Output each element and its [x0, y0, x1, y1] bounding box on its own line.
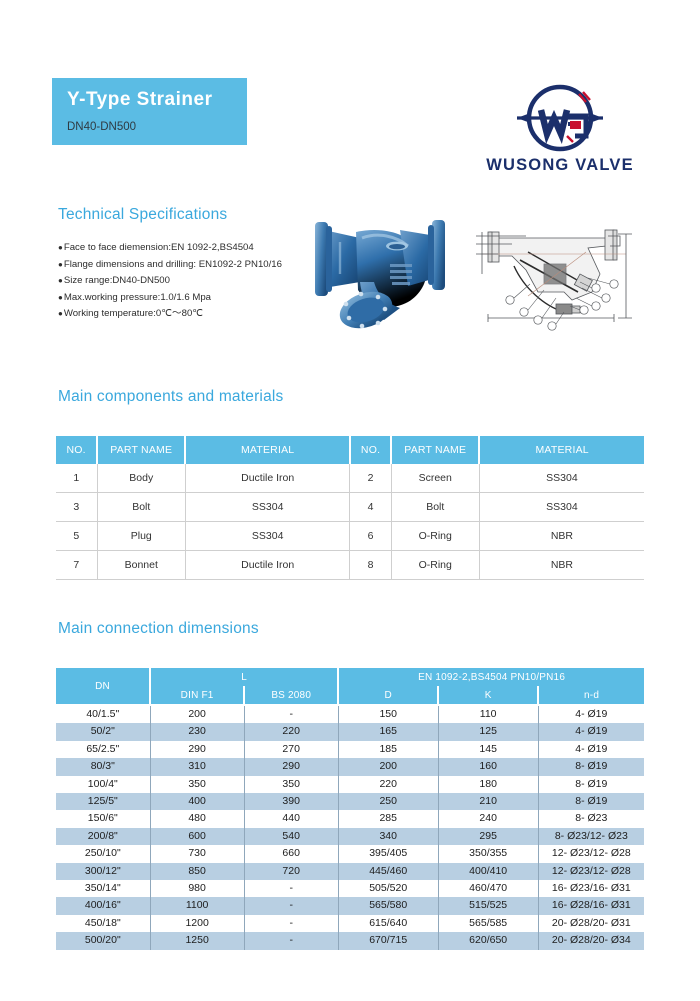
dimensions-table-body: 40/1.5" 200 - 150 110 4- Ø19 50/2" 230 2…	[56, 705, 644, 950]
column-header-material-1: MATERIAL	[185, 436, 350, 464]
cell-din-f1: 730	[150, 845, 244, 862]
cell-dn: 65/2.5"	[56, 741, 150, 758]
materials-table: NO. PART NAME MATERIAL NO. PART NAME MAT…	[56, 436, 644, 580]
spec-item: ●Face to face diemension:EN 1092-2,BS450…	[58, 240, 303, 257]
cell-n-d: 12- Ø23/12- Ø28	[538, 863, 644, 880]
cell-bs-2080: -	[244, 915, 338, 932]
cell-n-d: 4- Ø19	[538, 723, 644, 740]
technical-spec-list: ●Face to face diemension:EN 1092-2,BS450…	[58, 240, 303, 323]
cell-din-f1: 350	[150, 776, 244, 793]
cell-n-d: 20- Ø28/20- Ø34	[538, 932, 644, 949]
cell-d: 150	[338, 705, 438, 723]
table-row: 7 Bonnet Ductile Iron 8 O-Ring NBR	[56, 551, 644, 580]
cell-material: Ductile Iron	[185, 551, 350, 580]
cell-din-f1: 1250	[150, 932, 244, 949]
table-row: 150/6" 480 440 285 240 8- Ø23	[56, 810, 644, 827]
company-logo: WUSONG VALVE	[455, 80, 665, 188]
column-header-material-2: MATERIAL	[479, 436, 644, 464]
cell-material: SS304	[479, 493, 644, 522]
cell-part-name: Plug	[97, 522, 185, 551]
cell-k: 125	[438, 723, 538, 740]
spec-text: Working temperature:0℃～80℃	[64, 308, 203, 319]
cell-part-name: Bolt	[97, 493, 185, 522]
cell-bs-2080: 390	[244, 793, 338, 810]
cell-no: 2	[350, 464, 391, 493]
cell-part-name: O-Ring	[391, 522, 479, 551]
bullet-icon: ●	[58, 260, 63, 269]
cell-part-name: O-Ring	[391, 551, 479, 580]
column-header-part-name-2: PART NAME	[391, 436, 479, 464]
cell-n-d: 8- Ø23/12- Ø23	[538, 828, 644, 845]
dimensions-table: DN L EN 1092-2,BS4504 PN10/PN16 DIN F1 B…	[56, 668, 644, 950]
column-header-no-1: NO.	[56, 436, 97, 464]
technical-drawing	[468, 226, 638, 332]
column-header-d: D	[338, 686, 438, 705]
cell-d: 285	[338, 810, 438, 827]
cell-d: 165	[338, 723, 438, 740]
cell-dn: 40/1.5"	[56, 705, 150, 723]
cell-din-f1: 480	[150, 810, 244, 827]
page-title: Y-Type Strainer	[67, 88, 247, 112]
cell-d: 340	[338, 828, 438, 845]
spec-item: ●Flange dimensions and drilling: EN1092-…	[58, 257, 303, 274]
cell-part-name: Screen	[391, 464, 479, 493]
cell-din-f1: 1200	[150, 915, 244, 932]
cell-d: 220	[338, 776, 438, 793]
cell-d: 445/460	[338, 863, 438, 880]
cell-n-d: 8- Ø23	[538, 810, 644, 827]
cell-k: 565/585	[438, 915, 538, 932]
cell-no: 4	[350, 493, 391, 522]
spec-text: Max.working pressure:1.0/1.6 Mpa	[64, 292, 211, 303]
cell-din-f1: 1100	[150, 897, 244, 914]
cell-no: 7	[56, 551, 97, 580]
table-row: 65/2.5" 290 270 185 145 4- Ø19	[56, 741, 644, 758]
column-header-din-f1: DIN F1	[150, 686, 244, 705]
bullet-icon: ●	[58, 243, 63, 252]
cell-d: 200	[338, 758, 438, 775]
cell-bs-2080: 270	[244, 741, 338, 758]
section-heading-dimensions: Main connection dimensions	[58, 620, 259, 638]
table-row: 1 Body Ductile Iron 2 Screen SS304	[56, 464, 644, 493]
cell-material: NBR	[479, 551, 644, 580]
spec-text: Flange dimensions and drilling: EN1092-2…	[64, 259, 282, 270]
cell-din-f1: 200	[150, 705, 244, 723]
cell-material: SS304	[479, 464, 644, 493]
section-heading-materials: Main components and materials	[58, 388, 284, 406]
spec-item: ●Max.working pressure:1.0/1.6 Mpa	[58, 290, 303, 307]
product-photo	[296, 208, 461, 340]
cell-d: 670/715	[338, 932, 438, 949]
column-header-group-en: EN 1092-2,BS4504 PN10/PN16	[338, 668, 644, 686]
cell-no: 5	[56, 522, 97, 551]
cell-k: 160	[438, 758, 538, 775]
cell-dn: 450/18"	[56, 915, 150, 932]
page-header: Y-Type Strainer DN40-DN500 WUSONG VALVE	[0, 78, 700, 188]
wusong-logo-icon	[455, 80, 665, 158]
cell-dn: 150/6"	[56, 810, 150, 827]
cell-bs-2080: 720	[244, 863, 338, 880]
table-row: 5 Plug SS304 6 O-Ring NBR	[56, 522, 644, 551]
cell-bs-2080: -	[244, 705, 338, 723]
cell-dn: 50/2"	[56, 723, 150, 740]
cell-bs-2080: -	[244, 932, 338, 949]
cell-din-f1: 230	[150, 723, 244, 740]
cell-din-f1: 600	[150, 828, 244, 845]
column-header-bs-2080: BS 2080	[244, 686, 338, 705]
column-header-group-l: L	[150, 668, 338, 686]
cell-k: 400/410	[438, 863, 538, 880]
cell-d: 395/405	[338, 845, 438, 862]
cell-dn: 80/3"	[56, 758, 150, 775]
cell-bs-2080: -	[244, 897, 338, 914]
table-row: 300/12" 850 720 445/460 400/410 12- Ø23/…	[56, 863, 644, 880]
cell-bs-2080: -	[244, 880, 338, 897]
cell-bs-2080: 290	[244, 758, 338, 775]
cell-no: 1	[56, 464, 97, 493]
cell-part-name: Body	[97, 464, 185, 493]
page-subtitle: DN40-DN500	[67, 117, 247, 137]
table-row: 80/3" 310 290 200 160 8- Ø19	[56, 758, 644, 775]
table-row: 100/4" 350 350 220 180 8- Ø19	[56, 776, 644, 793]
cell-dn: 250/10"	[56, 845, 150, 862]
cell-dn: 350/14"	[56, 880, 150, 897]
cell-k: 110	[438, 705, 538, 723]
cell-bs-2080: 440	[244, 810, 338, 827]
table-header-group-row: DN L EN 1092-2,BS4504 PN10/PN16	[56, 668, 644, 686]
table-row: 400/16" 1100 - 565/580 515/525 16- Ø28/1…	[56, 897, 644, 914]
cell-k: 210	[438, 793, 538, 810]
section-heading-technical: Technical Specifications	[58, 206, 227, 224]
cell-n-d: 20- Ø28/20- Ø31	[538, 915, 644, 932]
table-row: 350/14" 980 - 505/520 460/470 16- Ø23/16…	[56, 880, 644, 897]
cell-n-d: 8- Ø19	[538, 776, 644, 793]
cell-material: Ductile Iron	[185, 464, 350, 493]
column-header-k: K	[438, 686, 538, 705]
spec-text: Size range:DN40-DN500	[64, 275, 170, 286]
cell-dn: 400/16"	[56, 897, 150, 914]
cell-d: 250	[338, 793, 438, 810]
cell-d: 565/580	[338, 897, 438, 914]
cell-din-f1: 980	[150, 880, 244, 897]
title-banner: Y-Type Strainer DN40-DN500	[52, 78, 247, 145]
cell-no: 3	[56, 493, 97, 522]
cell-no: 6	[350, 522, 391, 551]
spec-text: Face to face diemension:EN 1092-2,BS4504	[64, 242, 254, 253]
cell-n-d: 4- Ø19	[538, 705, 644, 723]
column-header-n-d: n-d	[538, 686, 644, 705]
cell-dn: 125/5"	[56, 793, 150, 810]
cell-d: 185	[338, 741, 438, 758]
cell-k: 295	[438, 828, 538, 845]
cell-no: 8	[350, 551, 391, 580]
cell-n-d: 12- Ø23/12- Ø28	[538, 845, 644, 862]
bullet-icon: ●	[58, 309, 63, 318]
cell-dn: 500/20"	[56, 932, 150, 949]
column-header-part-name-1: PART NAME	[97, 436, 185, 464]
table-row: 250/10" 730 660 395/405 350/355 12- Ø23/…	[56, 845, 644, 862]
table-row: 200/8" 600 540 340 295 8- Ø23/12- Ø23	[56, 828, 644, 845]
table-row: 50/2" 230 220 165 125 4- Ø19	[56, 723, 644, 740]
cell-k: 620/650	[438, 932, 538, 949]
cell-din-f1: 400	[150, 793, 244, 810]
cell-dn: 100/4"	[56, 776, 150, 793]
cell-k: 240	[438, 810, 538, 827]
table-row: 125/5" 400 390 250 210 8- Ø19	[56, 793, 644, 810]
spec-item: ●Working temperature:0℃～80℃	[58, 306, 303, 323]
cell-d: 505/520	[338, 880, 438, 897]
brand-name: WUSONG VALVE	[455, 156, 665, 175]
cell-k: 180	[438, 776, 538, 793]
column-header-no-2: NO.	[350, 436, 391, 464]
cell-part-name: Bonnet	[97, 551, 185, 580]
table-row: 500/20" 1250 - 670/715 620/650 20- Ø28/2…	[56, 932, 644, 949]
cell-bs-2080: 350	[244, 776, 338, 793]
cell-k: 515/525	[438, 897, 538, 914]
cell-material: NBR	[479, 522, 644, 551]
cell-n-d: 16- Ø28/16- Ø31	[538, 897, 644, 914]
cell-n-d: 4- Ø19	[538, 741, 644, 758]
cell-k: 350/355	[438, 845, 538, 862]
cell-k: 145	[438, 741, 538, 758]
cell-material: SS304	[185, 522, 350, 551]
cell-din-f1: 310	[150, 758, 244, 775]
cell-bs-2080: 220	[244, 723, 338, 740]
table-row: 40/1.5" 200 - 150 110 4- Ø19	[56, 705, 644, 723]
spec-item: ●Size range:DN40-DN500	[58, 273, 303, 290]
cell-k: 460/470	[438, 880, 538, 897]
table-row: 3 Bolt SS304 4 Bolt SS304	[56, 493, 644, 522]
cell-din-f1: 290	[150, 741, 244, 758]
bullet-icon: ●	[58, 276, 63, 285]
cell-n-d: 8- Ø19	[538, 793, 644, 810]
cell-bs-2080: 660	[244, 845, 338, 862]
cell-material: SS304	[185, 493, 350, 522]
cell-dn: 300/12"	[56, 863, 150, 880]
cell-d: 615/640	[338, 915, 438, 932]
column-header-dn: DN	[56, 668, 150, 705]
table-header-row: NO. PART NAME MATERIAL NO. PART NAME MAT…	[56, 436, 644, 464]
cell-bs-2080: 540	[244, 828, 338, 845]
cell-n-d: 16- Ø23/16- Ø31	[538, 880, 644, 897]
cell-part-name: Bolt	[391, 493, 479, 522]
table-row: 450/18" 1200 - 615/640 565/585 20- Ø28/2…	[56, 915, 644, 932]
bullet-icon: ●	[58, 293, 63, 302]
cell-din-f1: 850	[150, 863, 244, 880]
cell-dn: 200/8"	[56, 828, 150, 845]
cell-n-d: 8- Ø19	[538, 758, 644, 775]
